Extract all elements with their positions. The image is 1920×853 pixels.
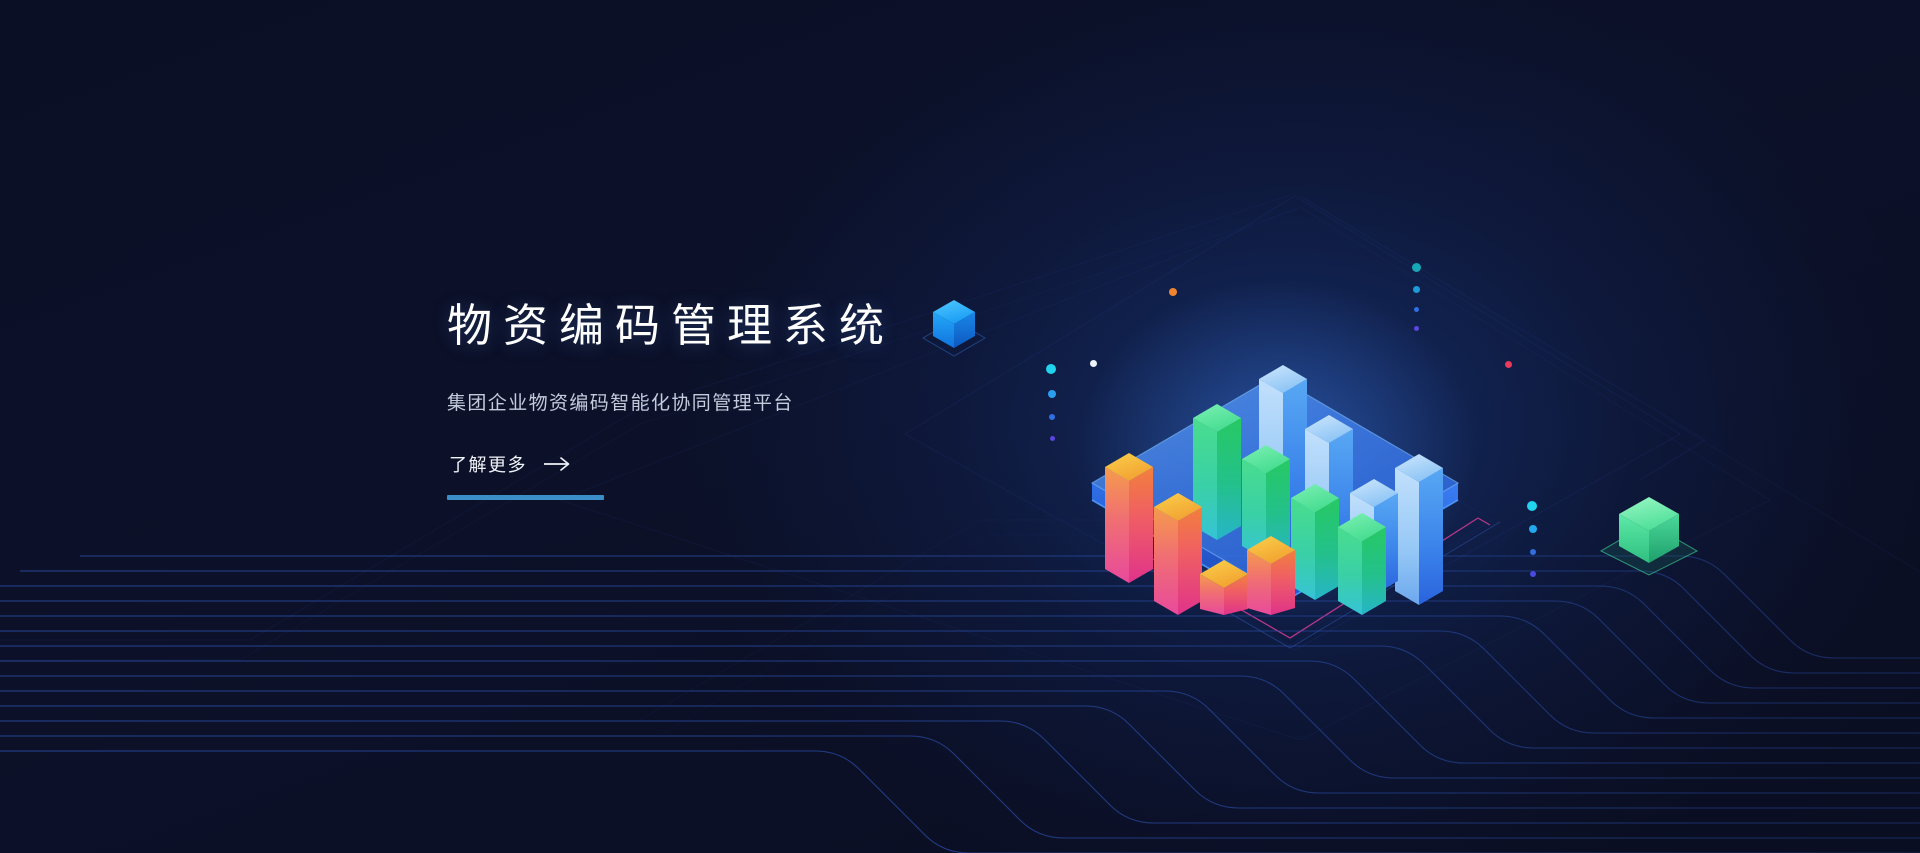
dot-blue-3 xyxy=(1414,307,1419,312)
page-subtitle: 集团企业物资编码智能化协同管理平台 xyxy=(447,388,1047,415)
learn-more-underline xyxy=(447,495,604,500)
dot-violet xyxy=(1050,436,1055,441)
page-title: 物资编码管理系统 xyxy=(447,298,895,354)
dot-violet-3 xyxy=(1530,571,1536,577)
learn-more-link[interactable]: 了解更多 xyxy=(447,451,604,500)
hero-banner: 物资编码管理系统 xyxy=(0,0,1920,853)
dot-teal xyxy=(1412,263,1421,272)
dot-cyan-2 xyxy=(1527,501,1537,511)
green-cube-icon xyxy=(1597,481,1701,577)
bar-b10 xyxy=(1338,513,1386,615)
title-row: 物资编码管理系统 xyxy=(447,290,1047,362)
dot-orange-accent xyxy=(1169,288,1177,296)
bar-b6 xyxy=(1247,536,1295,615)
dot-blue-2 xyxy=(1049,414,1055,420)
isometric-bar-chart-illustration xyxy=(1062,215,1482,615)
bar-b2 xyxy=(1154,493,1202,615)
dot-blue xyxy=(1048,390,1056,398)
dot-cyan xyxy=(1046,364,1056,374)
dot-blue-4 xyxy=(1530,549,1536,555)
bar-b1 xyxy=(1105,453,1153,583)
dot-red-accent xyxy=(1505,361,1512,368)
bar-b12 xyxy=(1395,454,1443,605)
arrow-right-icon xyxy=(543,456,571,472)
blue-cube-icon xyxy=(921,290,987,362)
dot-white-accent xyxy=(1090,360,1097,367)
dot-violet-2 xyxy=(1414,326,1419,331)
dot-teal-2 xyxy=(1413,286,1420,293)
learn-more-label: 了解更多 xyxy=(449,451,527,477)
bar-b8 xyxy=(1291,484,1339,600)
hero-copy: 物资编码管理系统 xyxy=(447,290,1047,500)
dot-cyan-3 xyxy=(1529,525,1537,533)
